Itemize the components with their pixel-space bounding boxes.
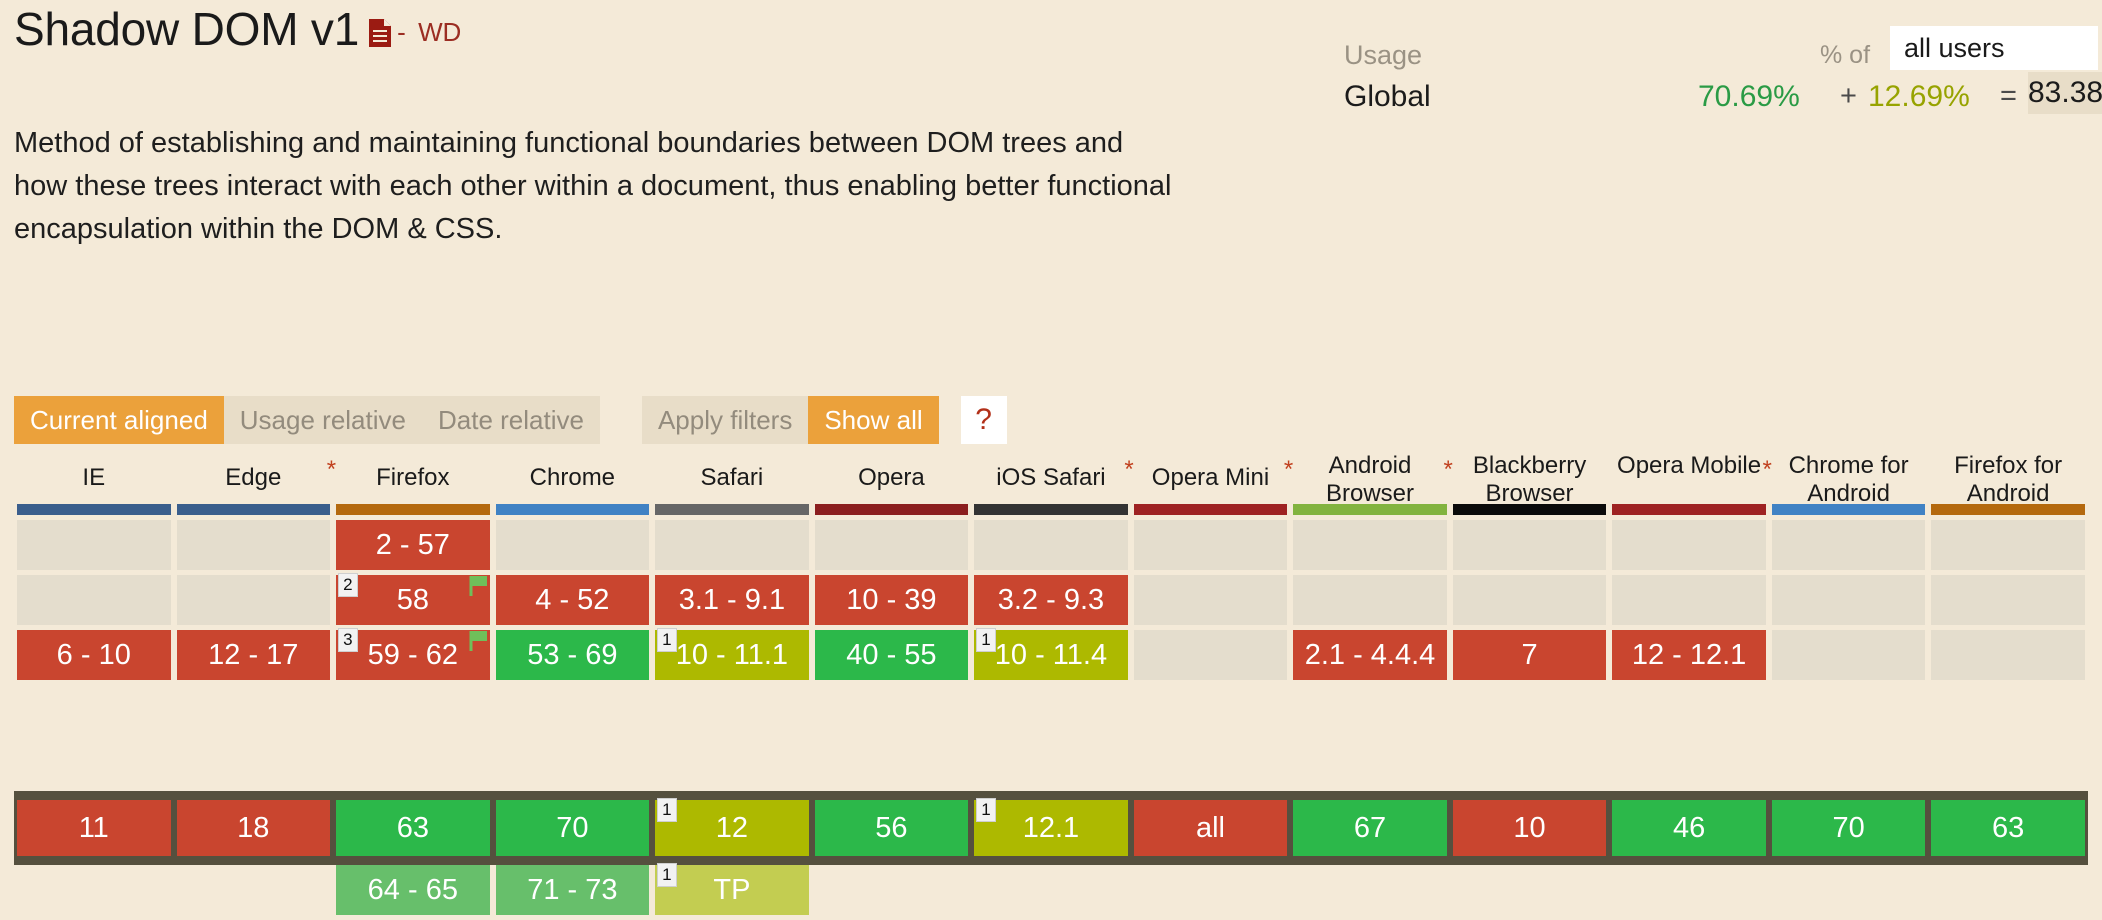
version-label: 53 - 69 (527, 639, 617, 672)
browser-bar-col-ie (14, 504, 174, 520)
browser-header-blackberry-browser[interactable]: Blackberry Browser (1453, 452, 1607, 504)
future-versions-ios-safari (971, 865, 1131, 920)
browser-column-opera-mobile: Opera Mobile* (1609, 452, 1769, 504)
spec-status-badge: WD (418, 17, 461, 47)
version-cell-blackberry-browser-past-1[interactable] (1453, 575, 1607, 625)
current-version-edge: 18 (174, 800, 334, 856)
browser-column-ios-safari: iOS Safari* (971, 452, 1131, 504)
version-cell-chrome-for-android-current[interactable]: 70 (1772, 800, 1926, 856)
past-versions-firefox-for-android (1928, 520, 2088, 685)
current-version-firefox: 63 (333, 800, 493, 856)
browser-header-ios-safari[interactable]: iOS Safari* (974, 452, 1128, 504)
version-label: 10 - 11.4 (995, 639, 1107, 672)
future-versions-opera-mobile (1609, 865, 1769, 920)
browser-column-safari: Safari (652, 452, 812, 504)
usage-label: Usage (1344, 40, 1422, 71)
version-label: 10 (1513, 812, 1545, 845)
version-cell-safari-future-0[interactable]: 1TP (655, 865, 809, 915)
version-label: 46 (1673, 812, 1705, 845)
version-label: 59 - 62 (368, 639, 458, 672)
past-versions-edge: 12 - 17 (174, 520, 334, 685)
version-cell-ie-past-1[interactable] (17, 575, 171, 625)
browser-name-label: Opera (858, 464, 925, 492)
filter-toolbar: Current alignedUsage relativeDate relati… (14, 396, 1007, 444)
version-cell-ie-current[interactable]: 11 (17, 800, 171, 856)
browser-column-opera: Opera (812, 452, 972, 504)
feature-description: Method of establishing and maintaining f… (14, 122, 1184, 251)
version-cell-opera-mini-past-0[interactable] (1134, 520, 1288, 570)
past-versions-blackberry-browser: 7 (1450, 520, 1610, 685)
version-cell-opera-past-0[interactable] (815, 520, 969, 570)
version-cell-firefox-future-0[interactable]: 64 - 65 (336, 865, 490, 915)
browser-header-chrome-for-android[interactable]: Chrome for Android (1772, 452, 1926, 504)
version-cell-edge-current[interactable]: 18 (177, 800, 331, 856)
version-cell-chrome-current[interactable]: 70 (496, 800, 650, 856)
version-cell-chrome-future-0[interactable]: 71 - 73 (496, 865, 650, 915)
page-title: Shadow DOM v1- WD (14, 6, 461, 52)
version-label: 10 - 39 (846, 584, 936, 617)
version-cell-blackberry-browser-past-2[interactable]: 7 (1453, 630, 1607, 680)
future-versions-firefox-for-android (1928, 865, 2088, 920)
browser-color-bar-chrome (496, 504, 650, 515)
usage-scope-label: Global (1344, 80, 1431, 114)
usage-panel: Usage % of all users Global 70.69% + 12.… (1200, 18, 2080, 110)
browser-name-label: Firefox (376, 464, 449, 492)
version-label: 2.1 - 4.4.4 (1305, 639, 1436, 672)
version-cell-firefox-past-2[interactable]: 359 - 62 (336, 630, 490, 680)
browser-color-bar-android-browser (1293, 504, 1447, 515)
percent-of-label: % of (1820, 41, 1870, 70)
version-cell-opera-mobile-past-1[interactable] (1612, 575, 1766, 625)
browser-color-bar-edge (177, 504, 331, 515)
feature-title-text: Shadow DOM v1 (14, 3, 359, 55)
version-cell-android-browser-past-0[interactable] (1293, 520, 1447, 570)
version-label: 58 (397, 584, 429, 617)
browser-color-bar-firefox (336, 504, 490, 515)
version-cell-android-browser-past-2[interactable]: 2.1 - 4.4.4 (1293, 630, 1447, 680)
version-label: 11 (79, 812, 109, 845)
note-badge[interactable]: 1 (657, 863, 676, 887)
browser-column-opera-mini: Opera Mini* (1131, 452, 1291, 504)
browser-color-bar-safari (655, 504, 809, 515)
version-cell-android-browser-past-1[interactable] (1293, 575, 1447, 625)
version-cell-firefox-for-android-past-0[interactable] (1931, 520, 2085, 570)
browser-header-edge[interactable]: Edge* (177, 452, 331, 504)
browser-name-label: IE (82, 464, 105, 492)
browser-bar-col-firefox-for-android (1928, 504, 2088, 520)
version-label: 2 - 57 (376, 529, 450, 562)
version-cell-chrome-for-android-past-2[interactable] (1772, 630, 1926, 680)
version-cell-blackberry-browser-current[interactable]: 10 (1453, 800, 1607, 856)
version-label: 18 (237, 812, 269, 845)
future-versions-chrome: 71 - 73 (493, 865, 653, 920)
note-badge[interactable]: 1 (657, 628, 676, 652)
version-label: 71 - 73 (527, 874, 617, 907)
future-versions-opera-mini (1131, 865, 1291, 920)
button-apply-filters[interactable]: Apply filters (642, 396, 808, 444)
version-label: 70 (556, 812, 588, 845)
version-cell-android-browser-current[interactable]: 67 (1293, 800, 1447, 856)
version-cell-edge-past-0[interactable] (177, 520, 331, 570)
version-label: 70 (1832, 812, 1864, 845)
version-cell-ios-safari-current[interactable]: 112.1 (974, 800, 1128, 856)
toolbar-spacer (600, 396, 642, 444)
version-label: 67 (1354, 812, 1386, 845)
version-cell-chrome-past-2[interactable]: 53 - 69 (496, 630, 650, 680)
version-cell-opera-mini-current[interactable]: all (1134, 800, 1288, 856)
version-label: 7 (1521, 639, 1537, 672)
button-current-aligned[interactable]: Current aligned (14, 396, 224, 444)
browser-bar-col-blackberry-browser (1450, 504, 1610, 520)
browser-name-label: Blackberry Browser (1455, 452, 1605, 509)
experimental-flag-icon (468, 575, 488, 597)
past-versions-opera-mobile: 12 - 12.1 (1609, 520, 1769, 685)
future-versions-opera (812, 865, 972, 920)
help-question-icon[interactable]: ? (961, 396, 1007, 444)
version-label: 12 (716, 812, 748, 845)
version-cell-opera-mobile-current[interactable]: 46 (1612, 800, 1766, 856)
version-label: 12 - 12.1 (1632, 639, 1746, 672)
version-cell-firefox-for-android-past-1[interactable] (1931, 575, 2085, 625)
version-cell-ios-safari-past-1[interactable]: 3.2 - 9.3 (974, 575, 1128, 625)
browser-color-bar-ie (17, 504, 171, 515)
current-version-opera: 56 (812, 800, 972, 856)
browser-name-label: Edge (225, 464, 281, 492)
current-version-safari: 112 (652, 800, 812, 856)
version-cell-firefox-for-android-past-2[interactable] (1931, 630, 2085, 680)
version-label: 6 - 10 (57, 639, 131, 672)
spec-status-dash: - (397, 17, 405, 47)
past-versions-chrome-for-android (1769, 520, 1929, 685)
future-versions-safari: 1TP (652, 865, 812, 920)
browser-header-safari[interactable]: Safari (655, 452, 809, 504)
button-show-all[interactable]: Show all (808, 396, 938, 444)
browser-bar-col-edge (174, 504, 334, 520)
note-badge[interactable]: 1 (976, 798, 995, 822)
browser-color-bar-opera-mobile (1612, 504, 1766, 515)
past-versions-android-browser: 2.1 - 4.4.4 (1290, 520, 1450, 685)
past-versions-grid: 6 - 1012 - 172 - 57258359 - 624 - 5253 -… (14, 520, 2088, 685)
current-version-ie: 11 (14, 800, 174, 856)
past-versions-firefox: 2 - 57258359 - 62 (333, 520, 493, 685)
current-version-opera-mini: all (1131, 800, 1291, 856)
version-cell-ios-safari-past-0[interactable] (974, 520, 1128, 570)
future-versions-ie (14, 865, 174, 920)
version-cell-safari-past-0[interactable] (655, 520, 809, 570)
browser-column-edge: Edge* (174, 452, 334, 504)
browser-color-bar-blackberry-browser (1453, 504, 1607, 515)
browser-column-firefox-for-android: Firefox for Android (1928, 452, 2088, 504)
version-label: 3.1 - 9.1 (679, 584, 785, 617)
browser-header-ie[interactable]: IE (17, 452, 171, 504)
usage-full-support: 70.69% (1698, 80, 1800, 114)
current-version-ios-safari: 112.1 (971, 800, 1131, 856)
version-label: all (1196, 812, 1225, 845)
browser-header-android-browser[interactable]: Android Browser* (1293, 452, 1447, 504)
browser-bar-col-safari (652, 504, 812, 520)
browser-support-table: IEEdge*FirefoxChromeSafariOperaiOS Safar… (14, 452, 2088, 685)
past-versions-chrome: 4 - 5253 - 69 (493, 520, 653, 685)
version-cell-safari-past-2[interactable]: 110 - 11.1 (655, 630, 809, 680)
version-cell-opera-current[interactable]: 56 (815, 800, 969, 856)
spec-document-icon[interactable] (369, 19, 391, 47)
version-label: 63 (397, 812, 429, 845)
browser-bar-col-opera (812, 504, 972, 520)
past-versions-opera-mini (1131, 520, 1291, 685)
current-version-chrome: 70 (493, 800, 653, 856)
version-label: 56 (875, 812, 907, 845)
current-version-opera-mobile: 46 (1609, 800, 1769, 856)
note-badge[interactable]: 3 (338, 628, 357, 652)
version-cell-opera-past-1[interactable]: 10 - 39 (815, 575, 969, 625)
browser-color-bar-row (14, 504, 2088, 520)
past-versions-ie: 6 - 10 (14, 520, 174, 685)
version-cell-blackberry-browser-past-0[interactable] (1453, 520, 1607, 570)
version-cell-safari-past-1[interactable]: 3.1 - 9.1 (655, 575, 809, 625)
version-cell-ie-past-0[interactable] (17, 520, 171, 570)
past-versions-safari: 3.1 - 9.1110 - 11.1 (652, 520, 812, 685)
feature-header: Shadow DOM v1- WD (14, 6, 461, 52)
version-cell-opera-past-2[interactable]: 40 - 55 (815, 630, 969, 680)
version-cell-chrome-for-android-past-1[interactable] (1772, 575, 1926, 625)
version-cell-edge-past-2[interactable]: 12 - 17 (177, 630, 331, 680)
future-versions-android-browser (1290, 865, 1450, 920)
usage-plus-sign: + (1840, 80, 1857, 113)
version-cell-firefox-past-0[interactable]: 2 - 57 (336, 520, 490, 570)
note-badge[interactable]: 2 (338, 573, 357, 597)
future-versions-grid: 64 - 6571 - 731TP (14, 865, 2088, 920)
version-cell-chrome-past-0[interactable] (496, 520, 650, 570)
usage-equals-sign: = (2000, 80, 2017, 113)
browser-header-chrome[interactable]: Chrome (496, 452, 650, 504)
version-cell-firefox-current[interactable]: 63 (336, 800, 490, 856)
version-cell-ie-past-2[interactable]: 6 - 10 (17, 630, 171, 680)
version-label: 12 - 17 (208, 639, 298, 672)
version-cell-firefox-past-1[interactable]: 258 (336, 575, 490, 625)
version-label: 63 (1992, 812, 2024, 845)
browser-bar-col-android-browser (1290, 504, 1450, 520)
browser-header-firefox-for-android[interactable]: Firefox for Android (1931, 452, 2085, 504)
browser-column-blackberry-browser: Blackberry Browser (1450, 452, 1610, 504)
browser-column-android-browser: Android Browser* (1290, 452, 1450, 504)
browser-bar-col-opera-mobile (1609, 504, 1769, 520)
browser-name-label: Firefox for Android (1933, 452, 2083, 509)
current-version-android-browser: 67 (1290, 800, 1450, 856)
button-usage-relative[interactable]: Usage relative (224, 396, 422, 444)
browser-bar-col-chrome-for-android (1769, 504, 1929, 520)
caniuse-feature-page: Shadow DOM v1- WD Method of establishing… (0, 0, 2102, 896)
browser-header-opera-mini[interactable]: Opera Mini* (1134, 452, 1288, 504)
experimental-flag-icon (468, 630, 488, 652)
browser-name-label: Android Browser (1295, 452, 1445, 509)
browser-color-bar-ios-safari (974, 504, 1128, 515)
browser-name-label: Opera Mini (1152, 464, 1269, 492)
browser-name-label: iOS Safari (996, 464, 1105, 492)
usage-partial-support: 12.69% (1868, 80, 1970, 114)
version-label: 40 - 55 (846, 639, 936, 672)
version-cell-opera-mobile-past-2[interactable]: 12 - 12.1 (1612, 630, 1766, 680)
version-cell-chrome-past-1[interactable]: 4 - 52 (496, 575, 650, 625)
current-version-blackberry-browser: 10 (1450, 800, 1610, 856)
past-versions-ios-safari: 3.2 - 9.3110 - 11.4 (971, 520, 1131, 685)
version-cell-opera-mini-past-2[interactable] (1134, 630, 1288, 680)
usage-total: 83.38% (2028, 72, 2102, 114)
browser-color-bar-chrome-for-android (1772, 504, 1926, 515)
browser-column-ie: IE (14, 452, 174, 504)
note-badge[interactable]: 1 (976, 628, 995, 652)
version-label: TP (713, 874, 750, 907)
version-cell-opera-mini-past-1[interactable] (1134, 575, 1288, 625)
browser-header-opera-mobile[interactable]: Opera Mobile* (1612, 452, 1766, 504)
browser-color-bar-opera-mini (1134, 504, 1288, 515)
version-label: 4 - 52 (535, 584, 609, 617)
browser-header-firefox[interactable]: Firefox (336, 452, 490, 504)
browser-name-label: Chrome for Android (1774, 452, 1924, 509)
version-cell-chrome-for-android-past-0[interactable] (1772, 520, 1926, 570)
current-version-row: 1118637011256112.1all6710467063 (14, 791, 2088, 865)
current-version-firefox-for-android: 63 (1928, 800, 2088, 856)
browser-header-opera[interactable]: Opera (815, 452, 969, 504)
current-version-chrome-for-android: 70 (1769, 800, 1929, 856)
version-cell-firefox-for-android-current[interactable]: 63 (1931, 800, 2085, 856)
button-date-relative[interactable]: Date relative (422, 396, 600, 444)
browser-name-label: Safari (701, 464, 764, 492)
version-cell-edge-past-1[interactable] (177, 575, 331, 625)
version-label: 3.2 - 9.3 (998, 584, 1104, 617)
future-versions-blackberry-browser (1450, 865, 1610, 920)
future-versions-chrome-for-android (1769, 865, 1929, 920)
note-badge[interactable]: 1 (657, 798, 676, 822)
browser-name-label: Opera Mobile (1617, 452, 1761, 480)
browser-column-chrome-for-android: Chrome for Android (1769, 452, 1929, 504)
version-label: 64 - 65 (368, 874, 458, 907)
browser-bar-col-firefox (333, 504, 493, 520)
browser-bar-col-ios-safari (971, 504, 1131, 520)
version-cell-ios-safari-past-2[interactable]: 110 - 11.4 (974, 630, 1128, 680)
future-versions-firefox: 64 - 65 (333, 865, 493, 920)
browser-header-row: IEEdge*FirefoxChromeSafariOperaiOS Safar… (14, 452, 2088, 504)
browser-color-bar-firefox-for-android (1931, 504, 2085, 515)
audience-select[interactable]: all users (1890, 26, 2098, 70)
future-versions-edge (174, 865, 334, 920)
version-cell-opera-mobile-past-0[interactable] (1612, 520, 1766, 570)
browser-bar-col-chrome (493, 504, 653, 520)
version-cell-safari-current[interactable]: 112 (655, 800, 809, 856)
browser-column-chrome: Chrome (493, 452, 653, 504)
past-versions-opera: 10 - 3940 - 55 (812, 520, 972, 685)
browser-color-bar-opera (815, 504, 969, 515)
version-label: 10 - 11.1 (676, 639, 788, 672)
browser-column-firefox: Firefox (333, 452, 493, 504)
browser-name-label: Chrome (530, 464, 615, 492)
browser-bar-col-opera-mini (1131, 504, 1291, 520)
version-label: 12.1 (1023, 812, 1079, 845)
